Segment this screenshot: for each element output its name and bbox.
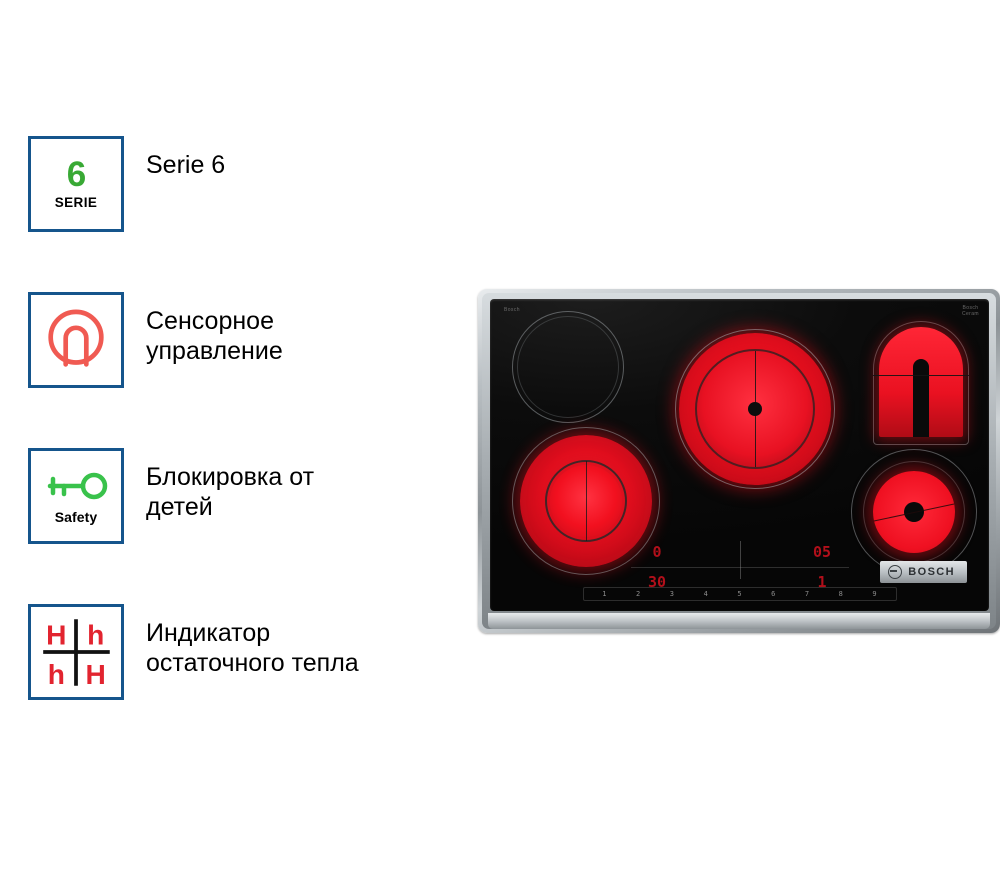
serie-6-icon-box: 6 SERIE [28,136,124,232]
panel-power-slider[interactable]: 1 2 3 4 5 6 7 8 9 [583,587,897,601]
slider-mark-9: 9 [872,590,876,598]
slider-mark-8: 8 [839,590,843,598]
bosch-logo-icon [888,565,902,579]
child-lock-icon-box: Safety [28,448,124,544]
touch-control-icon-box [28,292,124,388]
cooktop-control-panel[interactable]: 0 05 30 1 1 2 3 4 5 6 7 8 9 [575,537,905,597]
bosch-brand-text: BOSCH [908,566,955,578]
slider-mark-4: 4 [704,590,708,598]
feature-item-child-lock: Safety Блокировка от детей [28,448,314,544]
corner-text-top-right: Bosch Ceram [962,305,979,317]
heat-letter-2: h [48,659,65,690]
feature-label-residual-heat: Индикатор остаточного тепла [146,604,359,678]
panel-display-0[interactable]: 0 [575,543,740,561]
residual-heat-icon-box: H h h H [28,604,124,700]
key-icon [40,471,112,501]
feature-label-touch-control: Сенсорное управление [146,292,283,366]
slider-mark-7: 7 [805,590,809,598]
feature-label-child-lock: Блокировка от детей [146,448,314,522]
heat-letter-3: H [86,659,106,690]
child-lock-icon: Safety [31,451,121,541]
slider-mark-5: 5 [737,590,741,598]
residual-heat-indicator-icon: H h h H [31,607,121,697]
feature-item-touch-control: Сенсорное управление [28,292,283,388]
safety-word: Safety [55,509,98,525]
cooktop-zone-rear-right-roaster [873,321,969,445]
slider-mark-3: 3 [670,590,674,598]
cooktop-glass-surface: Bosch Bosch Ceram [490,299,989,611]
feature-item-residual-heat: H h h H Индикатор остаточного тепла [28,604,359,700]
serie-6-icon: 6 SERIE [31,139,121,229]
cooktop-bottom-strip [488,613,990,629]
heat-letter-1: h [87,620,104,651]
slider-mark-6: 6 [771,590,775,598]
cooktop-zone-front-left [512,311,624,423]
panel-display-1[interactable]: 05 [740,543,905,561]
cooktop-product-image: Bosch Bosch Ceram [478,289,1000,633]
slider-mark-1: 1 [602,590,606,598]
cooktop-zone-center [675,329,835,489]
slider-mark-2: 2 [636,590,640,598]
feature-label-serie-6: Serie 6 [146,136,225,180]
serie-number: 6 [67,158,85,192]
feature-item-serie-6: 6 SERIE Serie 6 [28,136,225,232]
bosch-brand-badge: BOSCH [880,561,967,583]
touch-control-icon [31,295,121,385]
serie-word: SERIE [55,195,98,210]
heat-letter-0: H [46,620,66,651]
